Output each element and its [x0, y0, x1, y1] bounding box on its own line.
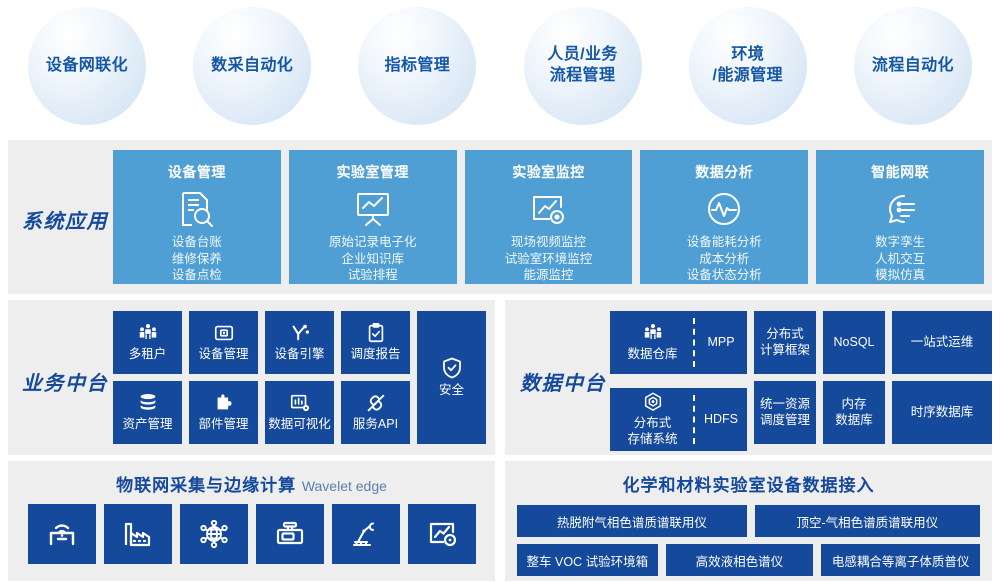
dashed-divider: [693, 395, 695, 444]
lab-equipment-box[interactable]: 电感耦合等离子体质普仪: [821, 544, 980, 576]
data-tile-unified-resource-scheduling[interactable]: 统一资源 调度管理: [754, 381, 816, 444]
capability-bubble[interactable]: 环境 /能源管理: [689, 7, 807, 125]
clipboard-check-icon: [365, 322, 387, 344]
iot-panel-title: 物联网采集与边缘计算 Wavelet edge: [8, 461, 495, 496]
business-tile-schedule-report[interactable]: 调度报告: [341, 311, 410, 374]
sysapp-card-title: 智能网联: [871, 162, 929, 182]
business-tile-column: 设备管理 部件管理: [189, 311, 258, 444]
sysapp-card-title: 实验室监控: [512, 162, 585, 182]
business-tile-label: 部件管理: [198, 417, 248, 433]
distributed-storage-icon: [642, 391, 664, 413]
business-tile-multi-tenant[interactable]: 多租户: [113, 311, 182, 374]
data-tile-column: 一站式运维 时序数据库: [892, 311, 992, 451]
lab-equipment-box[interactable]: 热脱附气相色谱质谱联用仪: [517, 505, 747, 537]
sysapp-card-title: 设备管理: [168, 162, 226, 182]
business-tile-label: 数据可视化: [268, 417, 331, 433]
lab-panel-title: 化学和材料实验室设备数据接入: [505, 461, 992, 496]
iot-title-subtitle: Wavelet edge: [302, 478, 387, 494]
monitor-chart-icon: [528, 188, 568, 230]
asset-database-icon: [137, 392, 159, 414]
capability-bubble-row: 设备网联化 数采自动化 指标管理 人员/业务 流程管理 环境 /能源管理 流程自…: [0, 0, 1000, 132]
sysapp-card-lab-management[interactable]: 实验室管理 原始记录电子化 企业知识库 试验排程: [289, 150, 457, 284]
business-tile-service-api[interactable]: 服务API: [341, 381, 410, 444]
bubble-label: 流程自动化: [866, 56, 960, 77]
data-tile-pair: 分布式 存储系统 HDFS: [610, 388, 747, 451]
factory-icon: [121, 517, 155, 551]
data-platform-row-label: 数据中台: [520, 367, 606, 396]
data-tile-nosql[interactable]: NoSQL: [823, 311, 885, 374]
iot-box-sensor-device[interactable]: [256, 504, 324, 564]
business-platform-tiles: 多租户 资产管理: [113, 311, 486, 444]
document-search-icon: [177, 188, 217, 230]
business-platform-row-label: 业务中台: [22, 367, 108, 396]
capability-bubble[interactable]: 流程自动化: [854, 7, 972, 125]
bubble-label: 环境 /能源管理: [707, 45, 789, 87]
data-tile-label: 分布式 存储系统: [627, 416, 677, 447]
pulse-circle-icon: [704, 188, 744, 230]
data-tile-pair: 数据仓库 MPP: [610, 311, 747, 374]
sysapp-card-title: 数据分析: [695, 162, 753, 182]
data-tile-label: 统一资源 调度管理: [760, 397, 810, 428]
dashed-divider: [693, 318, 695, 367]
data-tile-warehouse[interactable]: 数据仓库: [610, 311, 695, 374]
data-tile-label: 分布式 计算框架: [760, 327, 810, 358]
data-tile-column-warehouse: 数据仓库 MPP 分布式 存储系统: [610, 311, 747, 451]
data-tile-label: 一站式运维: [911, 335, 974, 351]
bubble-label: 数采自动化: [205, 56, 299, 77]
bubble-label: 人员/业务 流程管理: [541, 45, 623, 87]
puzzle-icon: [213, 392, 235, 414]
sysapp-card-desc: 设备台账 维修保养 设备点检: [172, 234, 222, 284]
globe-network-icon: [197, 517, 231, 551]
business-tile-component-management[interactable]: 部件管理: [189, 381, 258, 444]
sysapp-card-desc: 设备能耗分析 成本分析 设备状态分析: [687, 234, 762, 284]
data-viz-icon: [289, 392, 311, 414]
lab-equipment-row: 热脱附气相色谱质谱联用仪 顶空-气相色谱质谱联用仪: [517, 505, 980, 537]
warehouse-people-icon: [642, 322, 664, 344]
data-tile-label: MPP: [707, 335, 734, 351]
bubble-label: 指标管理: [379, 56, 457, 77]
iot-box-robot-arm[interactable]: [332, 504, 400, 564]
business-tile-label: 设备管理: [198, 347, 248, 363]
business-tile-device-engine[interactable]: 设备引擎: [265, 311, 334, 374]
sysapp-card-title: 实验室管理: [336, 162, 409, 182]
data-tile-one-stop-ops[interactable]: 一站式运维: [892, 311, 992, 374]
lab-equipment-row: 整车 VOC 试验环境箱 高效液相色谱仪 电感耦合等离子体质普仪: [517, 544, 980, 576]
iot-title-text: 物联网采集与边缘计算: [116, 476, 296, 495]
business-tile-device-management[interactable]: 设备管理: [189, 311, 258, 374]
business-tile-label: 多租户: [129, 347, 167, 363]
capability-bubble[interactable]: 指标管理: [358, 7, 476, 125]
multi-tenant-icon: [137, 322, 159, 344]
data-tile-distributed-storage[interactable]: 分布式 存储系统: [610, 388, 695, 451]
sysapp-card-desc: 数字孪生 人机交互 模拟仿真: [875, 234, 925, 284]
presentation-chart-icon: [353, 188, 393, 230]
architecture-diagram: 设备网联化 数采自动化 指标管理 人员/业务 流程管理 环境 /能源管理 流程自…: [0, 0, 1000, 588]
iot-box-globe-network[interactable]: [180, 504, 248, 564]
business-tile-label: 调度报告: [350, 347, 400, 363]
business-tile-label: 资产管理: [122, 417, 172, 433]
data-tile-label: 数据仓库: [627, 347, 677, 363]
data-tile-label: 内存 数据库: [835, 397, 873, 428]
capability-bubble[interactable]: 人员/业务 流程管理: [524, 7, 642, 125]
business-tile-label: 安全: [439, 383, 464, 399]
ai-head-icon: [880, 188, 920, 230]
system-application-row-label: 系统应用: [22, 205, 108, 234]
iot-box-chart-monitor[interactable]: [408, 504, 476, 564]
engine-node-icon: [289, 322, 311, 344]
business-tile-label: 服务API: [353, 417, 398, 433]
wifi-gateway-icon: [45, 517, 79, 551]
iot-box-wifi-gateway[interactable]: [28, 504, 96, 564]
device-box-icon: [213, 322, 235, 344]
robot-arm-icon: [349, 517, 383, 551]
data-tile-column: NoSQL 内存 数据库: [823, 311, 885, 451]
business-tile-security[interactable]: 安全: [417, 311, 486, 444]
capability-bubble[interactable]: 设备网联化: [28, 7, 146, 125]
business-tile-column: 多租户 资产管理: [113, 311, 182, 444]
data-tile-label: NoSQL: [834, 335, 875, 351]
chart-monitor-icon: [425, 517, 459, 551]
sysapp-card-device-management[interactable]: 设备管理 设备台账 维修保养 设备点检: [113, 150, 281, 284]
iot-icon-row: [8, 504, 495, 564]
sysapp-card-data-analysis[interactable]: 数据分析 设备能耗分析 成本分析 设备状态分析: [640, 150, 808, 284]
iot-edge-panel: 物联网采集与边缘计算 Wavelet edge: [8, 461, 495, 581]
business-tile-data-visualization[interactable]: 数据可视化: [265, 381, 334, 444]
data-platform-tiles: 数据仓库 MPP 分布式 存储系统: [610, 311, 992, 451]
sysapp-card-desc: 现场视频监控 试验室环境监控 能源监控: [505, 234, 593, 284]
data-tile-in-memory-database[interactable]: 内存 数据库: [823, 381, 885, 444]
data-tile-column: 分布式 计算框架 统一资源 调度管理: [754, 311, 816, 451]
data-tile-timeseries-database[interactable]: 时序数据库: [892, 381, 992, 444]
lab-equipment-panel: 化学和材料实验室设备数据接入 热脱附气相色谱质谱联用仪 顶空-气相色谱质谱联用仪…: [505, 461, 992, 581]
system-application-cards: 设备管理 设备台账 维修保养 设备点检 实验室管理: [113, 150, 984, 284]
bubble-label: 设备网联化: [40, 56, 134, 77]
api-plug-icon: [365, 392, 387, 414]
sysapp-card-lab-monitoring[interactable]: 实验室监控 现场视频监控 试验室环境监控 能源监控: [465, 150, 633, 284]
data-tile-mpp[interactable]: MPP: [695, 311, 747, 374]
data-tile-label: 时序数据库: [911, 405, 974, 421]
lab-equipment-box[interactable]: 高效液相色谱仪: [666, 544, 814, 576]
sysapp-card-desc: 原始记录电子化 企业知识库 试验排程: [329, 234, 417, 284]
lab-equipment-box[interactable]: 顶空-气相色谱质谱联用仪: [755, 505, 980, 537]
data-tile-hdfs[interactable]: HDFS: [695, 388, 747, 451]
business-tile-asset-management[interactable]: 资产管理: [113, 381, 182, 444]
business-tile-column: 调度报告 服务API: [341, 311, 410, 444]
lab-equipment-box[interactable]: 整车 VOC 试验环境箱: [517, 544, 658, 576]
business-tile-column: 设备引擎 数据可视化: [265, 311, 334, 444]
lab-equipment-rows: 热脱附气相色谱质谱联用仪 顶空-气相色谱质谱联用仪 整车 VOC 试验环境箱 高…: [505, 505, 992, 576]
sensor-device-icon: [273, 517, 307, 551]
data-tile-label: HDFS: [704, 412, 738, 428]
sysapp-card-intelligent-network[interactable]: 智能网联 数字孪生 人机交互 模拟仿真: [816, 150, 984, 284]
data-tile-distributed-compute-framework[interactable]: 分布式 计算框架: [754, 311, 816, 374]
business-tile-label: 设备引擎: [274, 347, 324, 363]
shield-check-icon: [440, 356, 464, 380]
iot-box-factory[interactable]: [104, 504, 172, 564]
capability-bubble[interactable]: 数采自动化: [193, 7, 311, 125]
